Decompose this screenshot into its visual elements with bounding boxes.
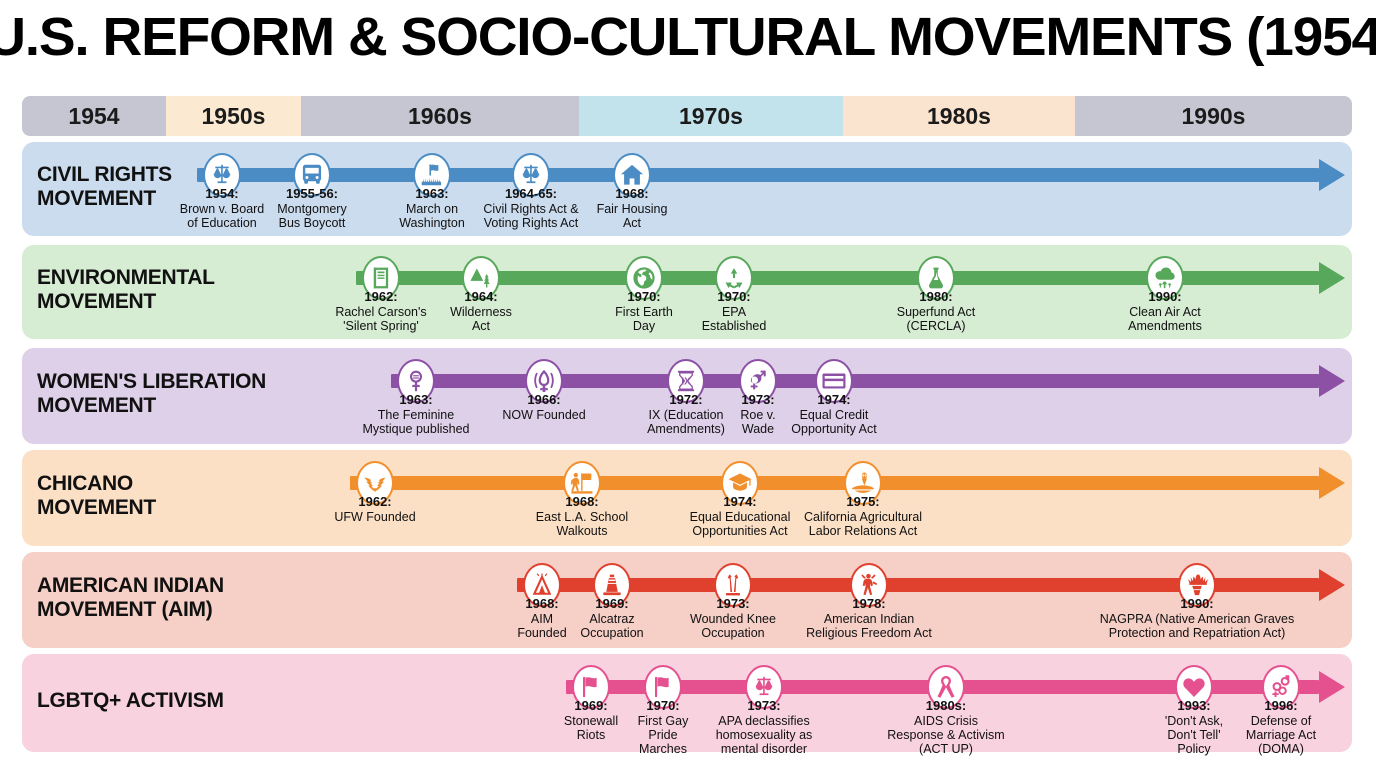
timeline-event-text: 1970:First Earth Day [598, 290, 690, 333]
decade-label: 1960s [408, 103, 472, 130]
event-year: 1996: [1234, 699, 1328, 714]
event-year: 1974: [780, 393, 888, 408]
timeline-event-text: 1969:Alcatraz Occupation [570, 597, 654, 640]
event-description: March on Washington [382, 202, 482, 230]
wheat-icon [850, 470, 876, 496]
event-description: First Earth Day [598, 305, 690, 333]
timeline-event-text: 1964:Wilderness Act [435, 290, 527, 333]
decade-label: 1980s [927, 103, 991, 130]
event-description: Superfund Act (CERCLA) [881, 305, 991, 333]
event-year: 1973: [678, 597, 788, 612]
decade-label: 1990s [1182, 103, 1246, 130]
movement-row-chicano: CHICANO MOVEMENT1962:UFW Founded1968:Eas… [22, 450, 1352, 546]
movement-row-american-indian: AMERICAN INDIAN MOVEMENT (AIM)1968:AIM F… [22, 552, 1352, 648]
house-icon [619, 162, 645, 188]
lighthouse-icon [599, 572, 625, 598]
event-year: 1968: [511, 597, 573, 612]
recycle-icon [721, 265, 747, 291]
event-year: 1963: [352, 393, 480, 408]
event-description: Rachel Carson's 'Silent Spring' [323, 305, 439, 333]
movement-row-environmental: ENVIRONMENTAL MOVEMENT1962:Rachel Carson… [22, 245, 1352, 339]
timeline-event-text: 1963:The Feminine Mystique published [352, 393, 480, 436]
event-description: Fair Housing Act [584, 202, 680, 230]
headdress-icon [1184, 572, 1210, 598]
event-year: 1972: [634, 393, 738, 408]
event-year: 1970: [598, 290, 690, 305]
heart-icon [1181, 674, 1207, 700]
timeline-event-text: 1973:Wounded Knee Occupation [678, 597, 788, 640]
timeline-event-text: 1962:UFW Founded [325, 495, 425, 524]
timeline-arrowhead [1319, 365, 1345, 397]
decade-cell-1950s: 1950s [166, 96, 301, 136]
event-year: 1964-65: [469, 187, 593, 202]
event-year: 1980s: [871, 699, 1021, 714]
event-year: 1970: [687, 290, 781, 305]
movement-row-civil-rights: CIVIL RIGHTS MOVEMENT1954:Brown v. Board… [22, 142, 1352, 236]
timeline-event-text: 1990:NAGPRA (Native American Graves Prot… [1061, 597, 1333, 640]
event-description: Roe v. Wade [728, 408, 788, 436]
decade-cell-1954: 1954 [22, 96, 166, 136]
event-description: APA declassifies homosexuality as mental… [704, 714, 824, 756]
event-year: 1974: [678, 495, 802, 510]
event-description: Clean Air Act Amendments [1109, 305, 1221, 333]
event-year: 1975: [793, 495, 933, 510]
event-description: Wilderness Act [435, 305, 527, 333]
event-description: Wounded Knee Occupation [678, 612, 788, 640]
credit-card-icon [821, 368, 847, 394]
timeline-event-text: 1963:March on Washington [382, 187, 482, 230]
decade-cell-1960s: 1960s [301, 96, 579, 136]
scales-icon [518, 162, 544, 188]
decade-cell-1990s: 1990s [1075, 96, 1352, 136]
event-year: 1980: [881, 290, 991, 305]
bus-icon [299, 162, 325, 188]
event-year: 1962: [323, 290, 439, 305]
timeline-event-text: 1969:Stonewall Riots [550, 699, 632, 742]
timeline-event-text: 1980s:AIDS Crisis Response & Activism (A… [871, 699, 1021, 756]
event-year: 1964: [435, 290, 527, 305]
event-year: 1963: [382, 187, 482, 202]
title-ix-icon: IX [673, 368, 699, 394]
timeline-event-text: 1966:NOW Founded [494, 393, 594, 422]
movement-title-american-indian: AMERICAN INDIAN MOVEMENT (AIM) [37, 574, 224, 623]
decade-header-bar: 19541950s1960s1970s1980s1990s [22, 96, 1352, 136]
movement-title-womens-liberation: WOMEN'S LIBERATION MOVEMENT [37, 370, 266, 419]
event-description: IX (Education Amendments) [634, 408, 738, 436]
timeline-event-text: 1968:East L.A. School Walkouts [524, 495, 640, 538]
teepee-icon [529, 572, 555, 598]
timeline-event-text: 1962:Rachel Carson's 'Silent Spring' [323, 290, 439, 333]
event-description: Defense of Marriage Act (DOMA) [1234, 714, 1328, 756]
timeline-event-text: 1973:APA declassifies homosexuality as m… [704, 699, 824, 756]
event-description: EPA Established [687, 305, 781, 333]
venus-equal-icon [403, 368, 429, 394]
timeline-event-text: 1996:Defense of Marriage Act (DOMA) [1234, 699, 1328, 756]
decade-label: 1970s [679, 103, 743, 130]
event-description: Montgomery Bus Boycott [260, 202, 364, 230]
march-flag-icon [419, 162, 445, 188]
timeline-event-text: 1970:EPA Established [687, 290, 781, 333]
timeline-event-text: 1974:Equal Educational Opportunities Act [678, 495, 802, 538]
timeline-event-text: 1978:American Indian Religious Freedom A… [799, 597, 939, 640]
timeline-event-text: 1970:First Gay Pride Marches [626, 699, 700, 756]
ribbon-icon [933, 674, 959, 700]
event-description: AIM Founded [511, 612, 573, 640]
book-icon [368, 265, 394, 291]
event-year: 1962: [325, 495, 425, 510]
movement-title-lgbtq: LGBTQ+ ACTIVISM [37, 689, 224, 713]
globe-icon [631, 265, 657, 291]
movement-title-environmental: ENVIRONMENTAL MOVEMENT [37, 266, 215, 315]
pride-flag-icon [578, 674, 604, 700]
scales-icon [751, 674, 777, 700]
timeline-event-text: 1993:'Don't Ask, Don't Tell' Policy [1151, 699, 1237, 756]
crossed-arrows-icon [720, 572, 746, 598]
event-year: 1990: [1109, 290, 1221, 305]
timeline-event-text: 1955-56:Montgomery Bus Boycott [260, 187, 364, 230]
timeline-event-text: 1964-65:Civil Rights Act & Voting Rights… [469, 187, 593, 230]
timeline-event-text: 1968:AIM Founded [511, 597, 573, 640]
timeline-event-text: 1972:IX (Education Amendments) [634, 393, 738, 436]
movement-title-civil-rights: CIVIL RIGHTS MOVEMENT [37, 163, 172, 212]
event-description: NAGPRA (Native American Graves Protectio… [1061, 612, 1333, 640]
infographic-root: U.S. REFORM & SOCIO-CULTURAL MOVEMENTS (… [0, 0, 1376, 768]
event-year: 1973: [728, 393, 788, 408]
venus-mars-icon [745, 368, 771, 394]
event-year: 1978: [799, 597, 939, 612]
gender-icon [1268, 674, 1294, 700]
event-description: Stonewall Riots [550, 714, 632, 742]
event-description: First Gay Pride Marches [626, 714, 700, 756]
page-title: U.S. REFORM & SOCIO-CULTURAL MOVEMENTS (… [0, 6, 1376, 68]
svg-text:IX: IX [681, 376, 691, 387]
event-year: 1973: [704, 699, 824, 714]
pride-flag-icon [650, 674, 676, 700]
movement-title-chicano: CHICANO MOVEMENT [37, 472, 156, 521]
event-description: UFW Founded [325, 510, 425, 524]
timeline-event-text: 1990:Clean Air Act Amendments [1109, 290, 1221, 333]
event-description: NOW Founded [494, 408, 594, 422]
decade-label: 1954 [68, 103, 119, 130]
event-description: Equal Educational Opportunities Act [678, 510, 802, 538]
event-year: 1968: [524, 495, 640, 510]
timeline-event-text: 1975:California Agricultural Labor Relat… [793, 495, 933, 538]
event-description: East L.A. School Walkouts [524, 510, 640, 538]
decade-cell-1980s: 1980s [843, 96, 1075, 136]
event-year: 1969: [550, 699, 632, 714]
event-year: 1970: [626, 699, 700, 714]
eagle-icon [362, 470, 388, 496]
movement-row-womens-liberation: WOMEN'S LIBERATION MOVEMENT1963:The Femi… [22, 348, 1352, 444]
graduation-icon [727, 470, 753, 496]
event-description: California Agricultural Labor Relations … [793, 510, 933, 538]
scales-icon [209, 162, 235, 188]
timeline-event-text: 1973:Roe v. Wade [728, 393, 788, 436]
protester-icon [569, 470, 595, 496]
timeline-arrowhead [1319, 467, 1345, 499]
timeline-event-text: 1974:Equal Credit Opportunity Act [780, 393, 888, 436]
event-description: 'Don't Ask, Don't Tell' Policy [1151, 714, 1237, 756]
event-year: 1969: [570, 597, 654, 612]
timeline-event-text: 1980:Superfund Act (CERCLA) [881, 290, 991, 333]
event-year: 1993: [1151, 699, 1237, 714]
decade-label: 1950s [202, 103, 266, 130]
event-description: Alcatraz Occupation [570, 612, 654, 640]
movement-row-lgbtq: LGBTQ+ ACTIVISM1969:Stonewall Riots1970:… [22, 654, 1352, 752]
timeline-arrowhead [1319, 159, 1345, 191]
event-description: Equal Credit Opportunity Act [780, 408, 888, 436]
timeline-track [350, 476, 1319, 490]
event-description: Civil Rights Act & Voting Rights Act [469, 202, 593, 230]
dancer-icon [856, 572, 882, 598]
event-description: AIDS Crisis Response & Activism (ACT UP) [871, 714, 1021, 756]
cloud-rain-icon [1152, 265, 1178, 291]
forest-icon [468, 265, 494, 291]
event-year: 1955-56: [260, 187, 364, 202]
event-year: 1968: [584, 187, 680, 202]
timeline-arrowhead [1319, 262, 1345, 294]
now-icon [531, 368, 557, 394]
timeline-event-text: 1968:Fair Housing Act [584, 187, 680, 230]
decade-cell-1970s: 1970s [579, 96, 843, 136]
event-year: 1990: [1061, 597, 1333, 612]
flask-icon [923, 265, 949, 291]
timeline-track [197, 168, 1319, 182]
event-year: 1966: [494, 393, 594, 408]
event-description: American Indian Religious Freedom Act [799, 612, 939, 640]
event-description: The Feminine Mystique published [352, 408, 480, 436]
